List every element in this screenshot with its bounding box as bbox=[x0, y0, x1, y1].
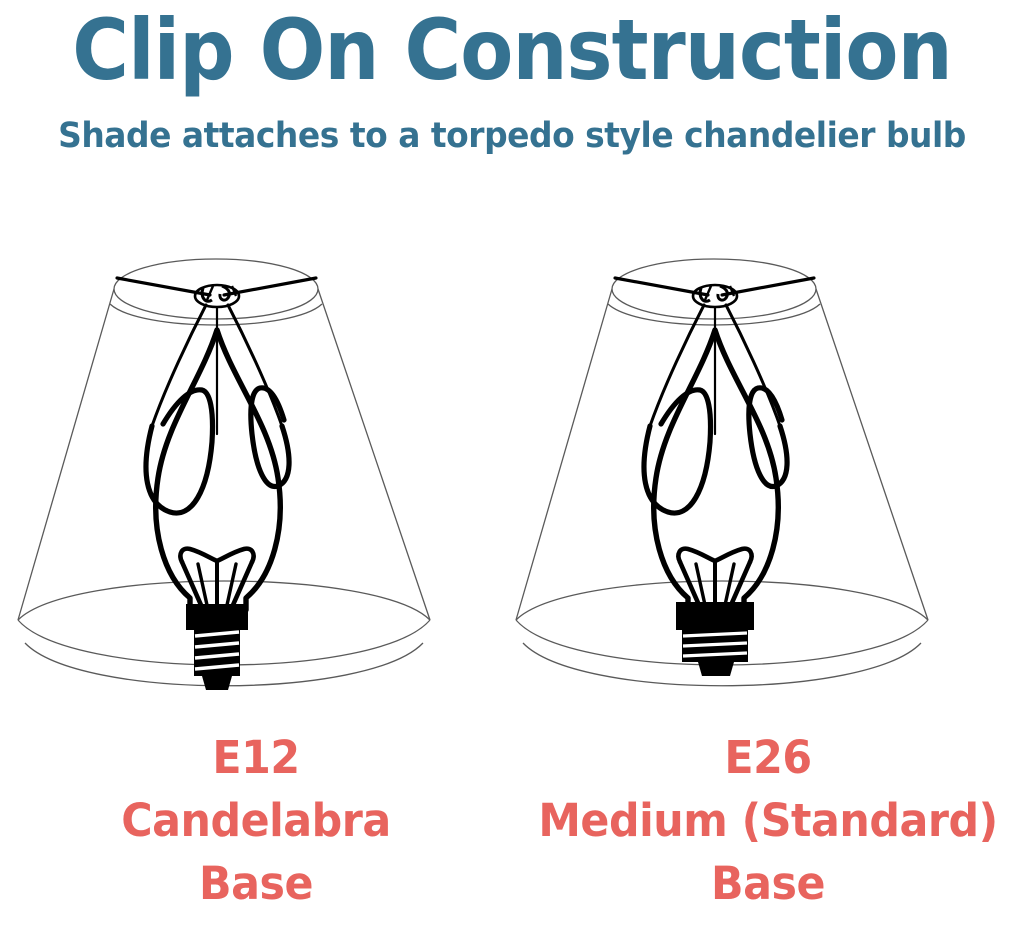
caption-e26-line1: E26 bbox=[525, 726, 1011, 789]
shade-bulb-diagram-e12 bbox=[0, 228, 512, 718]
illustration-row bbox=[0, 228, 1024, 728]
bulb-base-e12 bbox=[186, 604, 248, 690]
clip-top-wire-e12 bbox=[117, 278, 316, 295]
clip-coil-ring-e26 bbox=[693, 285, 737, 307]
caption-e12-line3: Base bbox=[13, 852, 499, 915]
caption-e12: E12 Candelabra Base bbox=[0, 726, 512, 915]
page-title: Clip On Construction bbox=[41, 0, 983, 96]
page-subtitle: Shade attaches to a torpedo style chande… bbox=[31, 96, 994, 156]
clip-top-wire-e26 bbox=[615, 278, 814, 295]
figure-e26 bbox=[512, 228, 1024, 718]
clip-on-construction-infographic: Clip On Construction Shade attaches to a… bbox=[0, 0, 1024, 933]
caption-row: E12 Candelabra Base E26 Medium (Standard… bbox=[0, 726, 1024, 933]
caption-e12-line2: Candelabra bbox=[13, 789, 499, 852]
clip-coil-ring-e12 bbox=[195, 285, 239, 307]
figure-e12 bbox=[0, 228, 512, 718]
shade-bulb-diagram-e26 bbox=[512, 228, 1024, 718]
caption-e26-line2: Medium (Standard) bbox=[525, 789, 1011, 852]
heading-block: Clip On Construction Shade attaches to a… bbox=[0, 0, 1024, 156]
caption-e12-line1: E12 bbox=[13, 726, 499, 789]
caption-e26-line3: Base bbox=[525, 852, 1011, 915]
caption-e26: E26 Medium (Standard) Base bbox=[512, 726, 1024, 915]
